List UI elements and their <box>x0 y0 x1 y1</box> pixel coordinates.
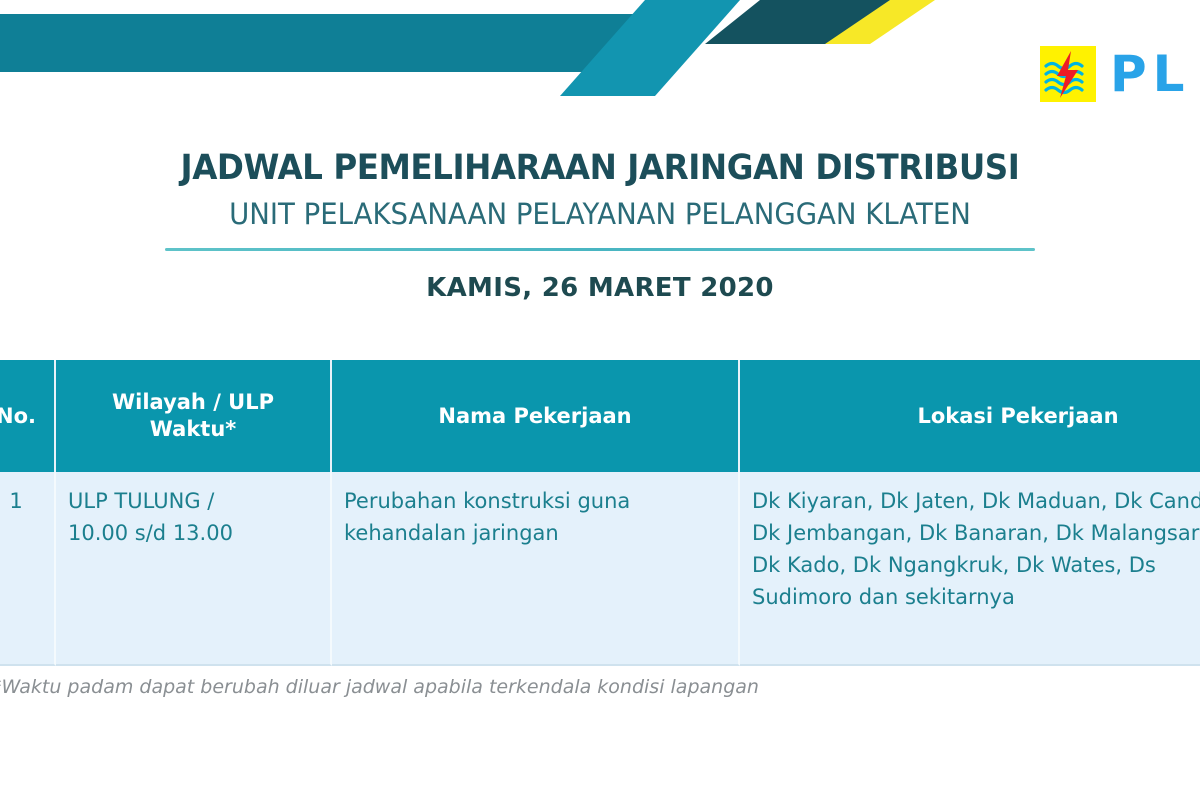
cell-lokasi-line2: Dk Jembangan, Dk Banaran, Dk Malangsari, <box>752 518 1200 550</box>
table-row: 1 ULP TULUNG / 10.00 s/d 13.00 Perubahan… <box>0 472 1200 666</box>
page-subtitle: UNIT PELAKSANAAN PELAYANAN PELANGGAN KLA… <box>30 197 1170 232</box>
header-banner: PL <box>0 0 1200 140</box>
cell-lokasi-pekerjaan: Dk Kiyaran, Dk Jaten, Dk Maduan, Dk Cand… <box>740 472 1200 666</box>
cell-wilayah-ulp-line1: ULP TULUNG / <box>68 486 318 518</box>
column-header-lokasi-pekerjaan: Lokasi Pekerjaan <box>740 360 1200 472</box>
banner-teal-bar <box>0 14 640 72</box>
column-header-wilayah-ulp-line2: Waktu* <box>150 417 237 441</box>
table-body: 1 ULP TULUNG / 10.00 s/d 13.00 Perubahan… <box>0 472 1200 666</box>
schedule-table-wrapper: No. Wilayah / ULP Waktu* Nama Pekerjaan … <box>0 360 1200 666</box>
column-header-wilayah-ulp-line1: Wilayah / ULP <box>112 390 274 414</box>
cell-nama-pekerjaan: Perubahan konstruksi guna kehandalan jar… <box>332 472 740 666</box>
schedule-date: KAMIS, 26 MARET 2020 <box>0 273 1200 303</box>
banner-decoration-graphic <box>0 0 1200 140</box>
table-header: No. Wilayah / ULP Waktu* Nama Pekerjaan … <box>0 360 1200 472</box>
page-title: JADWAL PEMELIHARAAN JARINGAN DISTRIBUSI <box>42 148 1158 188</box>
column-header-nama-pekerjaan: Nama Pekerjaan <box>332 360 740 472</box>
schedule-table: No. Wilayah / ULP Waktu* Nama Pekerjaan … <box>0 360 1200 666</box>
cell-nama-pekerjaan-line1: Perubahan konstruksi guna <box>344 486 726 518</box>
title-block: JADWAL PEMELIHARAAN JARINGAN DISTRIBUSI … <box>0 148 1200 303</box>
column-header-wilayah-ulp: Wilayah / ULP Waktu* <box>56 360 332 472</box>
footnote-text: *Waktu padam dapat berubah diluar jadwal… <box>0 676 1200 698</box>
title-divider <box>165 248 1035 251</box>
pln-maintenance-schedule-page: { "brand": { "logo_badge_icon": "pln-lig… <box>0 0 1200 800</box>
cell-no: 1 <box>0 472 56 666</box>
cell-lokasi-line4: Sudimoro dan sekitarnya <box>752 582 1200 614</box>
table-header-row: No. Wilayah / ULP Waktu* Nama Pekerjaan … <box>0 360 1200 472</box>
cell-waktu-line2: 10.00 s/d 13.00 <box>68 518 318 550</box>
pln-lightning-waves-icon <box>1040 46 1096 102</box>
cell-wilayah-ulp-waktu: ULP TULUNG / 10.00 s/d 13.00 <box>56 472 332 666</box>
column-header-no: No. <box>0 360 56 472</box>
pln-logo: PL <box>1040 46 1191 102</box>
cell-lokasi-line1: Dk Kiyaran, Dk Jaten, Dk Maduan, Dk Cand… <box>752 486 1200 518</box>
cell-nama-pekerjaan-line2: kehandalan jaringan <box>344 518 726 550</box>
pln-wordmark: PL <box>1110 49 1191 99</box>
cell-lokasi-line3: Dk Kado, Dk Ngangkruk, Dk Wates, Ds <box>752 550 1200 582</box>
